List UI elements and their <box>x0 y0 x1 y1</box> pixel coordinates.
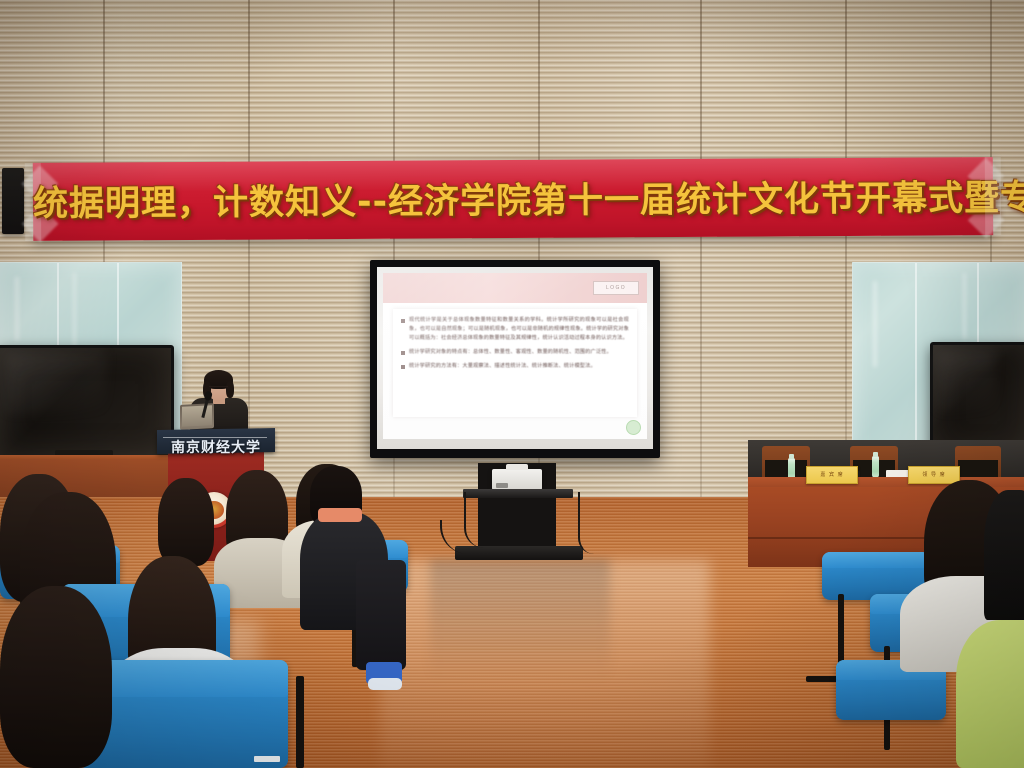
podium-laptop <box>180 403 214 430</box>
slide-logo-placeholder: LOGO <box>593 281 639 295</box>
slide-bullet: 现代统计学是关于总体现象数量特征和数量关系的学科。统计学所研究的现象可以是社会现… <box>401 316 629 343</box>
bullet-marker-icon <box>401 351 405 355</box>
person-shoe-sole <box>368 678 402 690</box>
projection-screen: LOGO 现代统计学是关于总体现象数量特征和数量关系的学科。统计学所研究的现象可… <box>377 267 653 449</box>
projector-lens-icon <box>496 483 508 488</box>
projection-screen-frame: LOGO 现代统计学是关于总体现象数量特征和数量关系的学科。统计学所研究的现象可… <box>370 260 660 458</box>
podium-university-name: 南京财经大学 <box>160 437 272 457</box>
name-placard-text: 嘉 宾 席 <box>807 467 857 483</box>
water-bottle <box>872 456 879 478</box>
projector <box>492 469 542 490</box>
slide-corner-badge-icon <box>626 420 641 435</box>
person-shoulders <box>984 490 1024 620</box>
person-hair <box>0 586 112 768</box>
speaker-glasses-icon <box>209 386 228 391</box>
wall-seam <box>248 0 250 500</box>
bullet-marker-icon <box>401 319 405 323</box>
presentation-slide: LOGO 现代统计学是关于总体现象数量特征和数量关系的学科。统计学所研究的现象可… <box>383 273 647 439</box>
slide-bullet: 统计学研究的方法有：大量观察法、描述性统计法、统计推断法、统计模型法。 <box>401 362 629 371</box>
event-banner: 统据明理，计数知义--经济学院第十一届统计文化节开幕式暨专业第一课 <box>33 157 993 241</box>
slide-bullet-text: 现代统计学是关于总体现象数量特征和数量关系的学科。统计学所研究的现象可以是社会现… <box>409 316 629 343</box>
person-hair <box>158 478 214 566</box>
slide-bullet: 统计学研究对象的特点有：总体性、数量性、客观性、数量的随机性、范围的广泛性。 <box>401 348 629 357</box>
person-shoulders <box>956 620 1024 768</box>
name-placard-text: 领 导 席 <box>909 467 959 483</box>
banner-title-text: 统据明理，计数知义--经济学院第十一届统计文化节开幕式暨专业第一课 <box>33 170 993 227</box>
floor-gloss-highlight <box>380 560 710 768</box>
projector-stand-base <box>455 546 583 560</box>
slide-bullet-text: 统计学研究的方法有：大量观察法、描述性统计法、统计推断法、统计模型法。 <box>409 362 596 371</box>
projector-cable <box>578 492 594 554</box>
wall-top-shadow <box>0 0 1024 70</box>
auditorium-photo: 统据明理，计数知义--经济学院第十一届统计文化节开幕式暨专业第一课 LOGO 现… <box>0 0 1024 768</box>
person-collar <box>318 508 362 522</box>
person-lower-body <box>356 560 406 670</box>
wall-seam <box>845 0 847 500</box>
bullet-marker-icon <box>401 365 405 369</box>
wall-seam <box>700 0 702 500</box>
slide-body: 现代统计学是关于总体现象数量特征和数量关系的学科。统计学所研究的现象可以是社会现… <box>393 309 637 417</box>
left-tv-monitor <box>0 345 174 459</box>
seat-number-tag <box>254 756 280 762</box>
name-placard: 领 导 席 <box>908 466 960 484</box>
slide-bullet-text: 统计学研究对象的特点有：总体性、数量性、客观性、数量的随机性、范围的广泛性。 <box>409 348 612 357</box>
wall-speaker-icon <box>2 168 24 234</box>
seat-leg <box>296 676 304 768</box>
name-placard: 嘉 宾 席 <box>806 466 858 484</box>
